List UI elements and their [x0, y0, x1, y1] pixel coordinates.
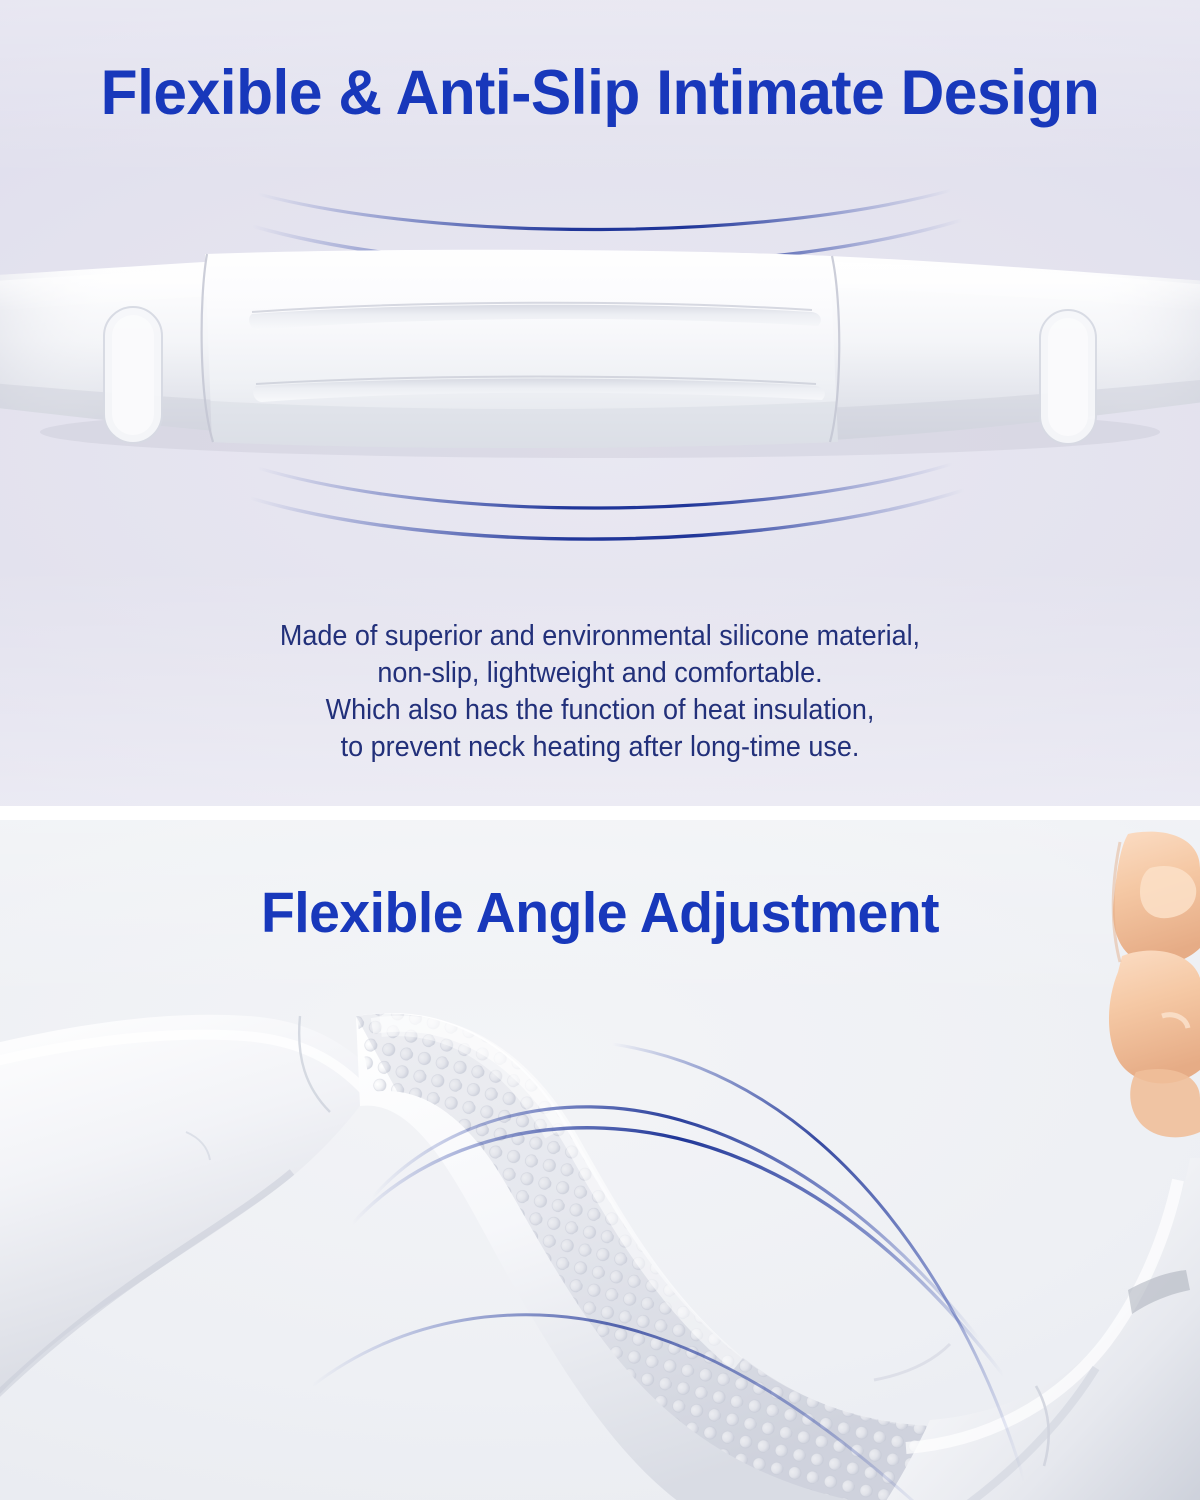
page-title-top: Flexible & Anti-Slip Intimate Design	[24, 62, 1176, 125]
product-infographic-page: Made of superior and environmental silic…	[0, 0, 1200, 1500]
center-grip-pad	[195, 240, 860, 460]
motion-arcs-below	[250, 464, 964, 539]
band-arm-left	[0, 1015, 380, 1438]
page-title-bottom: Flexible Angle Adjustment	[18, 885, 1182, 942]
seam-detail	[874, 1344, 950, 1380]
panel-divider	[0, 806, 1200, 820]
silicone-band-grip-illustration	[0, 150, 1200, 580]
description-line-1: Made of superior and environmental silic…	[42, 618, 1158, 655]
side-pill-detail-left	[104, 307, 162, 443]
description-block: Made of superior and environmental silic…	[0, 618, 1200, 766]
description-line-2: non-slip, lightweight and comfortable.	[42, 655, 1158, 692]
side-pill-detail-right	[1040, 310, 1096, 444]
product-image-top	[0, 150, 1200, 580]
description-line-3: Which also has the function of heat insu…	[42, 692, 1158, 729]
hand-holding-device	[1109, 832, 1200, 1138]
description-line-4: to prevent neck heating after long-time …	[42, 729, 1158, 766]
